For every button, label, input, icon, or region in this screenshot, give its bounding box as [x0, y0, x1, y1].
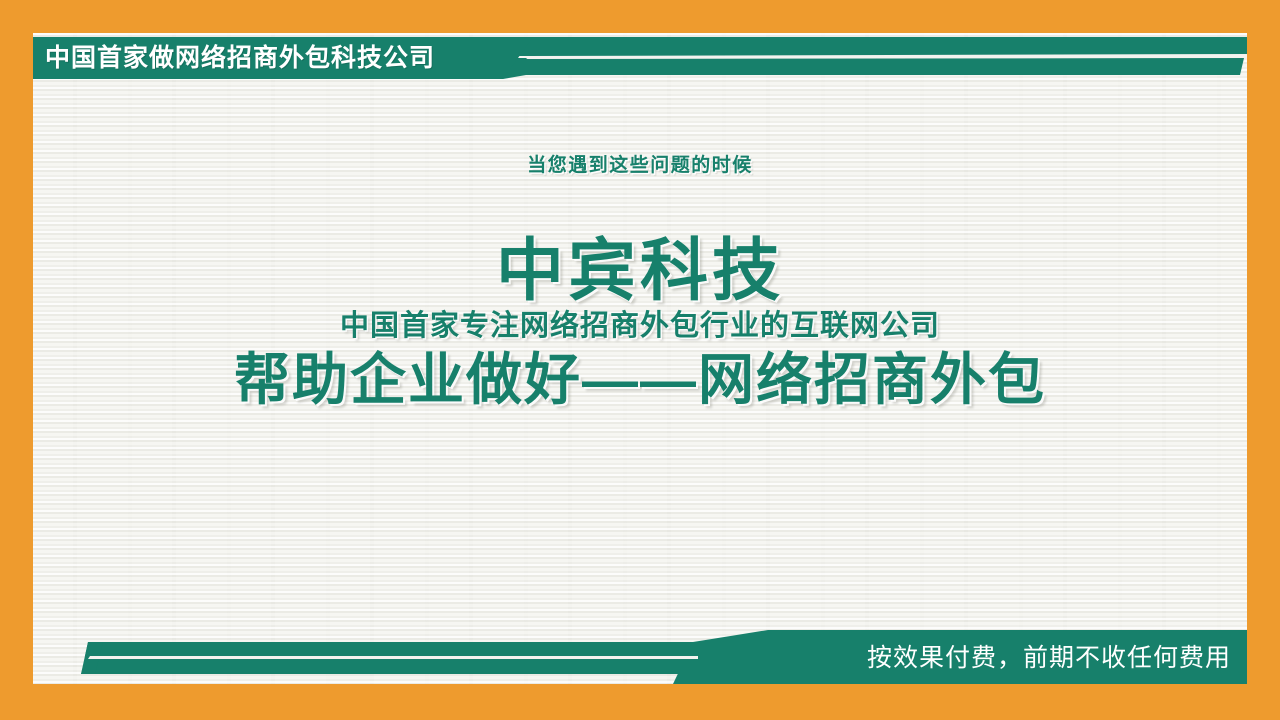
main-headline: 帮助企业做好——网络招商外包 [33, 347, 1247, 413]
brand-name: 中宾科技 [33, 233, 1247, 309]
footer-ribbon-shape [33, 616, 1247, 684]
slide-canvas: 中国首家做网络招商外包科技公司 当您遇到这些问题的时候 中宾科技 中国首家专注网… [33, 33, 1247, 684]
slide-body: 当您遇到这些问题的时候 中宾科技 中国首家专注网络招商外包行业的互联网公司 帮助… [33, 153, 1247, 413]
header-ribbon: 中国首家做网络招商外包科技公司 [33, 37, 1247, 79]
header-ribbon-shape [33, 37, 1247, 79]
presentation-slide: 中国首家做网络招商外包科技公司 当您遇到这些问题的时候 中宾科技 中国首家专注网… [0, 0, 1280, 720]
footer-text: 按效果付费，前期不收任何费用 [867, 641, 1231, 675]
footer-ribbon: 按效果付费，前期不收任何费用 [33, 616, 1247, 684]
header-title: 中国首家做网络招商外包科技公司 [45, 42, 435, 74]
kicker-text: 当您遇到这些问题的时候 [33, 153, 1247, 179]
company-tagline: 中国首家专注网络招商外包行业的互联网公司 [33, 307, 1247, 345]
